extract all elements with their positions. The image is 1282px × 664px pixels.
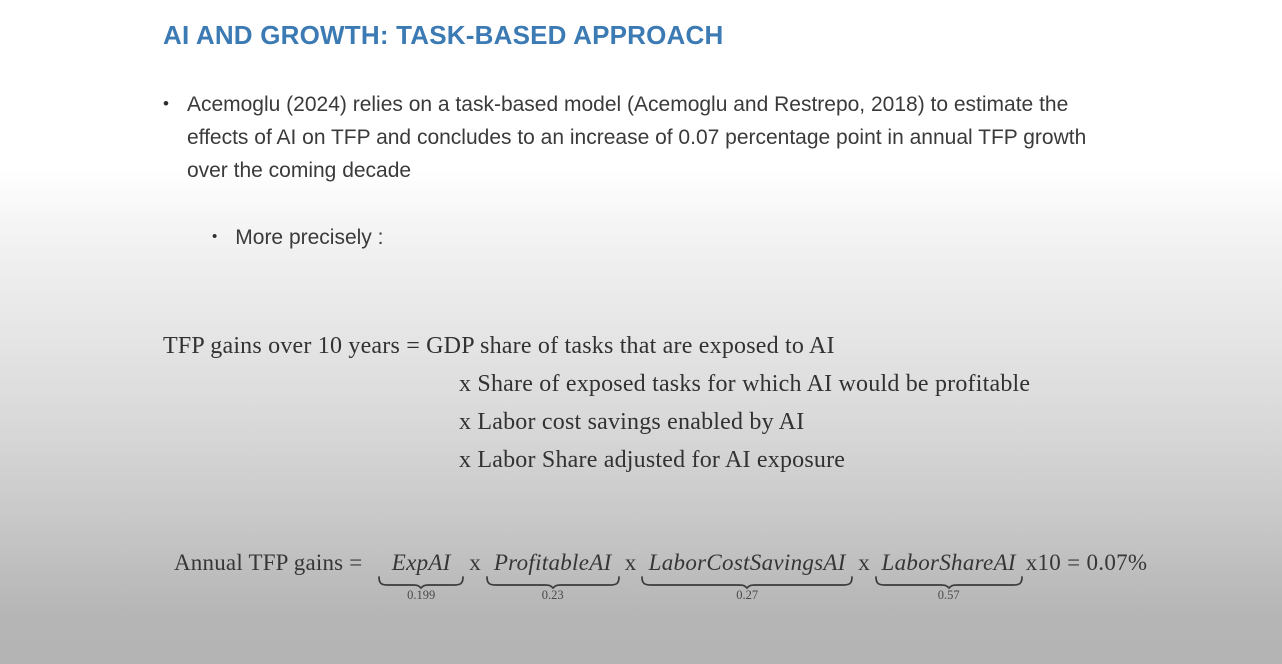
formula-lead-label: Annual TFP gains = [174,548,362,578]
formula-term-exposure: ExpAI 0.199 [378,548,464,602]
formula-term-exposure-variable: ExpAI [392,548,451,578]
equation-line-3: x Labor cost savings enabled by AI [163,403,1030,441]
formula-term-laborshare-variable: LaborShareAI [882,548,1016,578]
bullet-item-sub: • More precisely : [212,223,383,253]
formula-term-profitable-value: 0.23 [542,588,564,602]
formula-operator-2: x [620,548,642,578]
formula-operator-1: x [464,548,486,578]
formula-term-profitable: ProfitableAI 0.23 [486,548,620,602]
equation-line-4: x Labor Share adjusted for AI exposure [163,441,1030,479]
equation-line-1: TFP gains over 10 years = GDP share of t… [163,327,1030,365]
formula-term-laborcost-variable: LaborCostSavingsAI [649,548,846,578]
formula-term-laborshare-value: 0.57 [938,588,960,602]
page-title: AI AND GROWTH: TASK-BASED APPROACH [163,20,723,51]
formula-term-exposure-value: 0.199 [407,588,435,602]
annual-tfp-formula: Annual TFP gains = ExpAI 0.199 x Profita… [174,548,1147,602]
equation-line-2: x Share of exposed tasks for which AI wo… [163,365,1030,403]
sub-bullet-marker-icon: • [212,229,217,244]
bullet-sub-text: More precisely : [235,223,383,253]
formula-term-laborshare: LaborShareAI 0.57 [875,548,1023,602]
formula-term-profitable-variable: ProfitableAI [494,548,612,578]
formula-operator-3: x [853,548,875,578]
bullet-main-text: Acemoglu (2024) relies on a task-based m… [187,88,1123,187]
slide-canvas: AI AND GROWTH: TASK-BASED APPROACH • Ace… [0,0,1282,664]
formula-spacer [362,548,378,578]
bullet-item-main: • Acemoglu (2024) relies on a task-based… [163,88,1123,187]
formula-result: x10 = 0.07% [1023,548,1148,578]
bullet-marker-icon: • [163,95,169,112]
formula-term-laborcost: LaborCostSavingsAI 0.27 [641,548,853,602]
equation-block: TFP gains over 10 years = GDP share of t… [163,327,1030,479]
formula-term-laborcost-value: 0.27 [736,588,758,602]
